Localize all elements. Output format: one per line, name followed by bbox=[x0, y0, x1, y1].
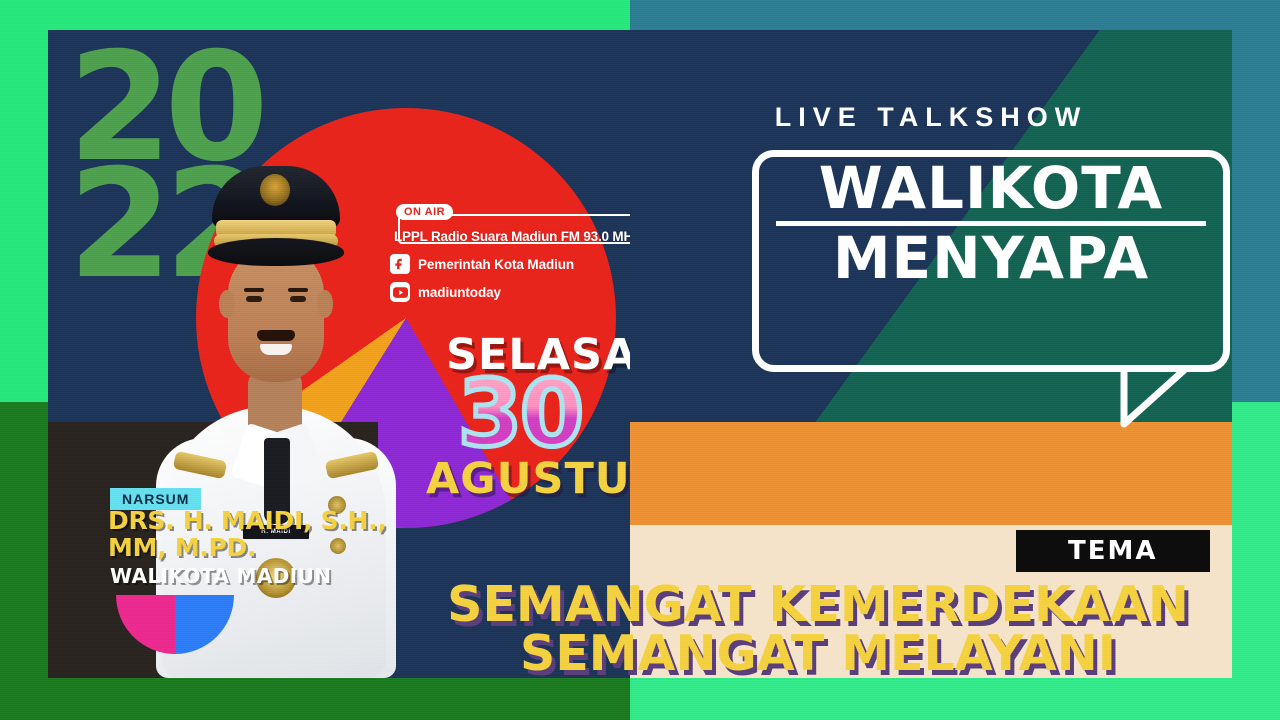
speaker-name: DRS. H. MAIDI, S.H., MM, M.PD. bbox=[108, 508, 428, 561]
portrait-eyebrow-right bbox=[288, 288, 308, 292]
orange-band bbox=[630, 422, 1232, 525]
tema-badge: TEMA bbox=[1016, 530, 1210, 572]
portrait-cap-brim bbox=[208, 238, 344, 266]
portrait-eyebrow-left bbox=[244, 288, 264, 292]
slogan-line-2: SEMANGAT MELAYANI bbox=[358, 629, 1232, 678]
show-title: WALIKOTA MENYAPA bbox=[752, 158, 1230, 289]
portrait-mouth bbox=[260, 344, 292, 355]
youtube-handle: madiuntoday bbox=[418, 285, 501, 300]
facebook-icon bbox=[390, 254, 410, 274]
portrait-face bbox=[228, 246, 324, 382]
portrait-eye-left bbox=[246, 296, 262, 302]
facebook-row[interactable]: Pemerintah Kota Madiun bbox=[390, 254, 630, 274]
event-month: AGUSTUS bbox=[426, 454, 630, 504]
theme-slogan: SEMANGAT KEMERDEKAAN SEMANGAT MELAYANI bbox=[358, 580, 1232, 678]
portrait-eye-right bbox=[290, 296, 306, 302]
facebook-handle: Pemerintah Kota Madiun bbox=[418, 257, 574, 272]
youtube-row[interactable]: madiuntoday bbox=[390, 282, 630, 302]
radio-station-label: LPPL Radio Suara Madiun FM 93.0 MHz bbox=[394, 229, 630, 244]
slogan-line-1: SEMANGAT KEMERDEKAAN bbox=[358, 580, 1232, 629]
show-title-line2: MENYAPA bbox=[752, 228, 1230, 289]
on-air-row: ON AIR LPPL Radio Suara Madiun FM 93.0 M… bbox=[390, 212, 630, 246]
broadcast-info-block: ON AIR LPPL Radio Suara Madiun FM 93.0 M… bbox=[390, 212, 630, 302]
youtube-icon bbox=[390, 282, 410, 302]
speech-bubble-tail bbox=[1120, 366, 1216, 428]
show-eyebrow-label: LIVE TALKSHOW bbox=[630, 102, 1232, 133]
speaker-role: WALIKOTA MADIUN bbox=[110, 564, 331, 588]
garuda-emblem-icon bbox=[260, 174, 290, 206]
event-day-number: 30 bbox=[458, 368, 582, 460]
portrait-ear-right bbox=[317, 290, 333, 318]
on-air-badge: ON AIR bbox=[396, 204, 453, 220]
portrait-moustache bbox=[257, 330, 295, 341]
poster-card: 20 22 bbox=[48, 30, 1232, 678]
show-title-line1: WALIKOTA bbox=[752, 158, 1230, 219]
portrait-ear-left bbox=[219, 290, 235, 318]
